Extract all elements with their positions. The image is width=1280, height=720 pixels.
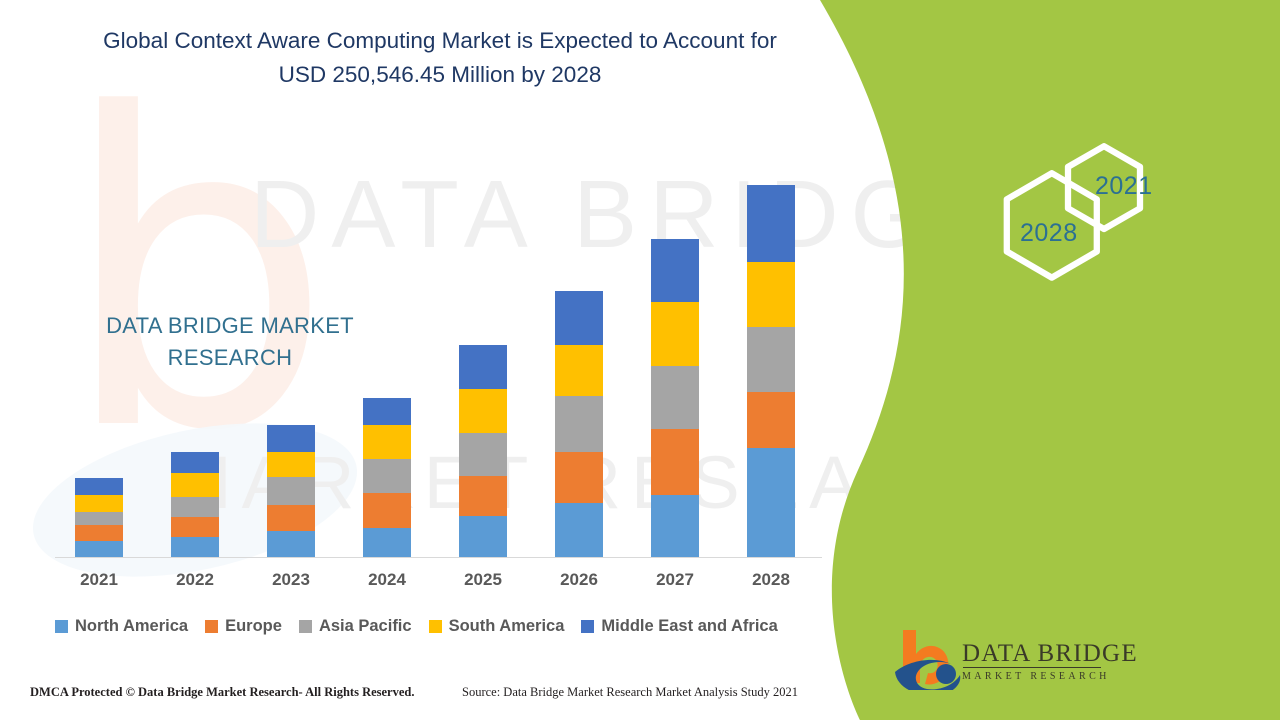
x-tick-2023: 2023 bbox=[251, 570, 331, 590]
bar-segment-2028-south-america bbox=[747, 262, 795, 327]
bar-2021 bbox=[75, 478, 123, 557]
bar-segment-2024-south-america bbox=[363, 425, 411, 459]
x-tick-2021: 2021 bbox=[59, 570, 139, 590]
footer-copyright: DMCA Protected © Data Bridge Market Rese… bbox=[30, 685, 415, 700]
bar-segment-2021-north-america bbox=[75, 541, 123, 557]
legend-swatch bbox=[581, 620, 594, 633]
bar-segment-2028-north-america bbox=[747, 448, 795, 557]
bar-segment-2022-europe bbox=[171, 517, 219, 537]
x-tick-2028: 2028 bbox=[731, 570, 811, 590]
hexagon-2028-label: 2028 bbox=[1020, 219, 1078, 248]
legend-item-europe[interactable]: Europe bbox=[205, 617, 282, 636]
bar-segment-2026-south-america bbox=[555, 345, 603, 396]
x-axis-tick-labels: 20212022202320242025202620272028 bbox=[0, 570, 880, 596]
footer: DMCA Protected © Data Bridge Market Rese… bbox=[0, 682, 880, 712]
bar-segment-2022-asia-pacific bbox=[171, 497, 219, 517]
bar-2022 bbox=[171, 452, 219, 557]
bar-segment-2027-europe bbox=[651, 429, 699, 495]
chart-title: Global Context Aware Computing Market is… bbox=[90, 24, 790, 92]
bar-segment-2026-asia-pacific bbox=[555, 396, 603, 452]
legend-item-middle-east-and-africa[interactable]: Middle East and Africa bbox=[581, 617, 777, 636]
bar-segment-2027-middle-east-and-africa bbox=[651, 239, 699, 302]
legend-swatch bbox=[429, 620, 442, 633]
x-tick-2027: 2027 bbox=[635, 570, 715, 590]
legend-swatch bbox=[55, 620, 68, 633]
bar-segment-2023-europe bbox=[267, 505, 315, 531]
logo-name-line1: DATA BRIDGE bbox=[962, 640, 1138, 668]
bar-2024 bbox=[363, 398, 411, 557]
bar-segment-2028-asia-pacific bbox=[747, 327, 795, 392]
bar-segment-2025-europe bbox=[459, 476, 507, 516]
logo-wordmark: DATA BRIDGE MARKET RESEARCH bbox=[962, 640, 1138, 682]
bar-segment-2025-middle-east-and-africa bbox=[459, 345, 507, 389]
bar-segment-2024-asia-pacific bbox=[363, 459, 411, 493]
bar-2023 bbox=[267, 425, 315, 557]
legend-label: South America bbox=[449, 617, 565, 636]
bar-2028 bbox=[747, 185, 795, 557]
legend-label: Asia Pacific bbox=[319, 617, 412, 636]
bar-segment-2028-europe bbox=[747, 392, 795, 448]
bar-segment-2027-north-america bbox=[651, 495, 699, 557]
bar-segment-2022-south-america bbox=[171, 473, 219, 497]
logo-dot bbox=[936, 664, 956, 684]
x-tick-2025: 2025 bbox=[443, 570, 523, 590]
bar-segment-2021-middle-east-and-africa bbox=[75, 478, 123, 495]
bar-segment-2025-north-america bbox=[459, 516, 507, 557]
bar-segment-2024-north-america bbox=[363, 528, 411, 557]
bar-segment-2026-middle-east-and-africa bbox=[555, 291, 603, 345]
logo-divider bbox=[963, 667, 1101, 668]
bar-2025 bbox=[459, 345, 507, 557]
bar-segment-2021-europe bbox=[75, 525, 123, 541]
legend-swatch bbox=[299, 620, 312, 633]
x-axis-line bbox=[55, 557, 822, 558]
bar-segment-2023-south-america bbox=[267, 452, 315, 477]
bar-segment-2027-south-america bbox=[651, 302, 699, 366]
bar-segment-2022-middle-east-and-africa bbox=[171, 452, 219, 473]
bar-segment-2025-asia-pacific bbox=[459, 433, 507, 476]
bar-segment-2024-europe bbox=[363, 493, 411, 528]
footer-source: Source: Data Bridge Market Research Mark… bbox=[462, 685, 798, 700]
bar-segment-2026-north-america bbox=[555, 503, 603, 557]
chart-canvas: b DATA BRIDGE MARKET RESEARCH Global Con… bbox=[0, 0, 1280, 720]
bar-segment-2024-middle-east-and-africa bbox=[363, 398, 411, 425]
legend-item-asia-pacific[interactable]: Asia Pacific bbox=[299, 617, 412, 636]
bar-segment-2021-south-america bbox=[75, 495, 123, 512]
legend-label: Europe bbox=[225, 617, 282, 636]
bar-segment-2023-asia-pacific bbox=[267, 477, 315, 505]
legend-item-north-america[interactable]: North America bbox=[55, 617, 188, 636]
bar-segment-2021-asia-pacific bbox=[75, 512, 123, 525]
panel-shape bbox=[820, 0, 1280, 720]
logo-name-line2: MARKET RESEARCH bbox=[962, 671, 1138, 682]
bar-segment-2023-north-america bbox=[267, 531, 315, 557]
x-tick-2024: 2024 bbox=[347, 570, 427, 590]
x-tick-2022: 2022 bbox=[155, 570, 235, 590]
hexagon-2021-label: 2021 bbox=[1095, 172, 1153, 201]
legend-item-south-america[interactable]: South America bbox=[429, 617, 565, 636]
bar-segment-2026-europe bbox=[555, 452, 603, 503]
bar-segment-2027-asia-pacific bbox=[651, 366, 699, 429]
bar-segment-2022-north-america bbox=[171, 537, 219, 557]
bar-segment-2023-middle-east-and-africa bbox=[267, 425, 315, 452]
bar-segment-2028-middle-east-and-africa bbox=[747, 185, 795, 262]
legend-label: North America bbox=[75, 617, 188, 636]
legend-label: Middle East and Africa bbox=[601, 617, 777, 636]
side-panel bbox=[820, 0, 1280, 720]
x-tick-2026: 2026 bbox=[539, 570, 619, 590]
legend-swatch bbox=[205, 620, 218, 633]
chart-legend: North AmericaEuropeAsia PacificSouth Ame… bbox=[55, 617, 795, 636]
bar-segment-2025-south-america bbox=[459, 389, 507, 433]
bar-2027 bbox=[651, 239, 699, 557]
bar-2026 bbox=[555, 291, 603, 557]
